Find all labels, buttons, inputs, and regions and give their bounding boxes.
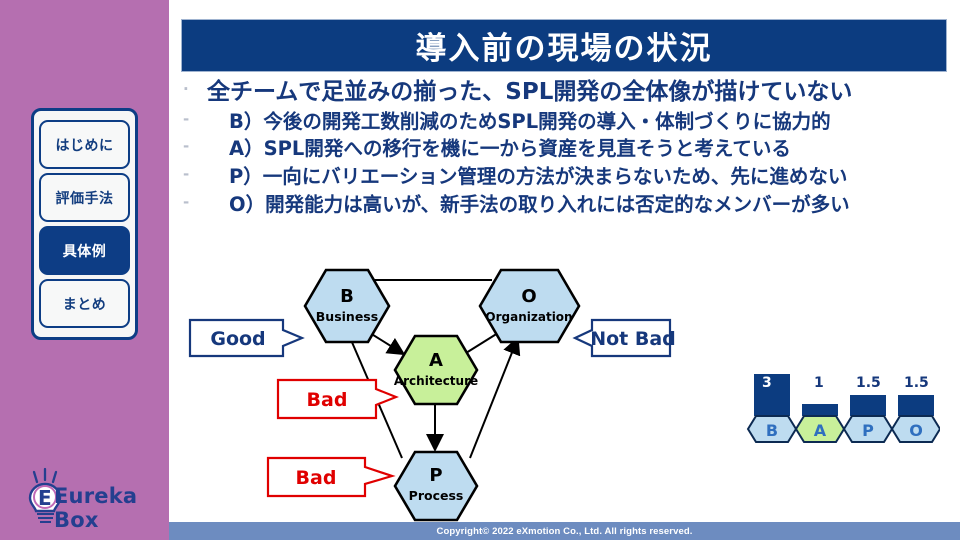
page-title: 導入前の現場の状況 [416,23,713,68]
bar-value-label: 1 [814,375,824,391]
chart-bar-b: 3 B [748,374,796,442]
logo-letter: E [38,486,52,510]
slide-canvas: はじめに 評価手法 具体例 まとめ [0,0,960,540]
diagram-node-architecture[interactable]: A Architecture [394,336,478,404]
node-letter: A [429,350,443,371]
bullet-text: O）開発能力は高いが、新手法の取り入れには否定的なメンバーが多い [229,192,850,218]
sidebar-item-hajimeni[interactable]: はじめに [39,120,130,169]
bar-category-label: P [862,421,874,440]
sidebar-item-matome[interactable]: まとめ [39,279,130,328]
callout-label: Not Bad [590,328,676,350]
callout-good: Good [190,320,302,356]
bapo-bar-chart: 3 B 1 A 1.5 P 1.5 [740,362,940,457]
bullet-text: A）SPL開発への移行を機に一から資産を見直そうと考えている [229,136,791,162]
bullet-main: · 全チームで足並みの揃った、SPL開発の全体像が描けていない [183,78,945,107]
bullet-marker: - [183,109,229,130]
bullet-sub-b: - B）今後の開発工数削減のためSPL開発の導入・体制づくりに協力的 [183,109,945,135]
logo-text: Eureka Box [54,484,164,532]
node-label: Business [316,309,378,324]
chart-bar-p: 1.5 P [844,375,892,442]
footer: Copyright© 2022 eXmotion Co., Ltd. All r… [169,522,960,540]
bar-value-label: 3 [762,375,772,391]
diagram-node-process[interactable]: P Process [395,452,477,520]
bar-category-label: O [909,421,923,440]
node-letter: O [521,286,536,307]
node-label: Architecture [394,374,478,388]
chart-bar-o: 1.5 O [892,375,940,442]
callout-label: Bad [307,389,348,411]
footer-copyright: Copyright© 2022 eXmotion Co., Ltd. All r… [436,526,692,537]
sidebar: はじめに 評価手法 具体例 まとめ [0,0,169,540]
bullet-sub-o: - O）開発能力は高いが、新手法の取り入れには否定的なメンバーが多い [183,192,945,218]
sidebar-nav: はじめに 評価手法 具体例 まとめ [31,108,138,340]
bullet-sub-p: - P）一向にバリエーション管理の方法が決まらないため、先に進めない [183,164,945,190]
callout-label: Good [210,328,265,350]
callout-label: Bad [296,467,337,489]
bar-value-label: 1.5 [856,375,881,391]
bullet-marker: · [183,78,207,101]
node-label: Organization [485,310,572,324]
sidebar-item-gutairei[interactable]: 具体例 [39,226,130,275]
bar-category-label: B [766,421,778,440]
bullet-text: 全チームで足並みの揃った、SPL開発の全体像が描けていない [207,78,852,107]
bar-category-label: A [814,421,827,440]
diagram-node-organization[interactable]: O Organization [480,270,579,342]
sidebar-item-label: まとめ [63,294,107,314]
logo: Eureka Box E [14,466,164,528]
bullet-text: P）一向にバリエーション管理の方法が決まらないため、先に進めない [229,164,847,190]
callout-bad-architecture: Bad [278,380,396,418]
sidebar-item-hyoukashuhou[interactable]: 評価手法 [39,173,130,222]
bullet-text: B）今後の開発工数削減のためSPL開発の導入・体制づくりに協力的 [229,109,831,135]
callout-bad-process: Bad [268,458,392,496]
bapo-diagram: B Business O Organization A Architecture… [180,258,680,523]
bullet-marker: - [183,192,229,213]
callout-not-bad: Not Bad [575,320,676,356]
bullet-list: · 全チームで足並みの揃った、SPL開発の全体像が描けていない - B）今後の開… [183,78,945,218]
sidebar-item-label: はじめに [56,135,114,155]
node-letter: B [340,286,354,307]
bullet-sub-a: - A）SPL開発への移行を機に一から資産を見直そうと考えている [183,136,945,162]
sidebar-item-label: 具体例 [63,241,107,261]
bullet-marker: - [183,136,229,157]
chart-bar-a: 1 A [796,375,844,442]
node-letter: P [429,465,442,486]
bullet-marker: - [183,164,229,185]
sidebar-item-label: 評価手法 [56,188,114,208]
bar-value-label: 1.5 [904,375,929,391]
node-label: Process [409,488,464,503]
title-banner: 導入前の現場の状況 [181,19,947,72]
